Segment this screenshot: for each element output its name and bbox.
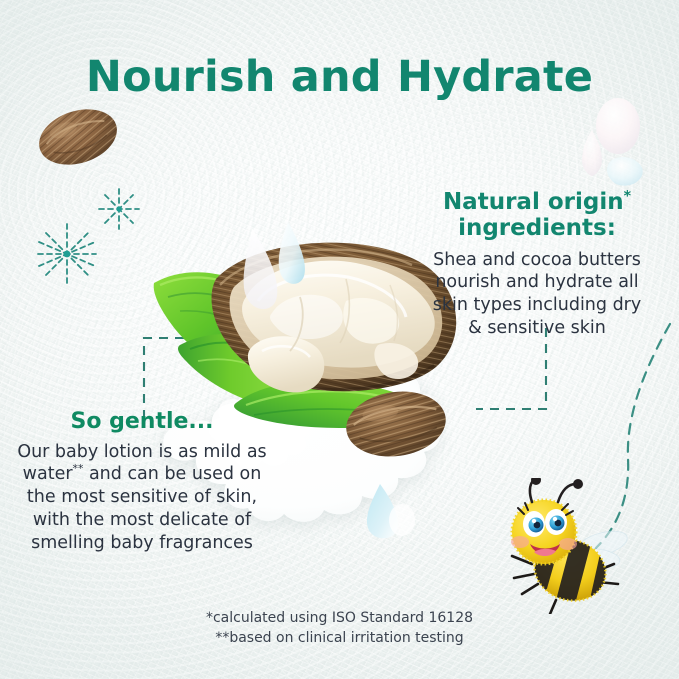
footnotes: *calculated using ISO Standard 16128 **b… (0, 608, 679, 649)
natural-origin-body: Shea and cocoa butters nourish and hydra… (428, 249, 646, 340)
natural-origin-heading-line1: Natural origin (443, 189, 624, 215)
infographic-canvas: Nourish and Hydrate Natural origin* ingr… (0, 0, 679, 679)
shea-nut-whole-center (340, 383, 452, 465)
text-block-natural-origin: Natural origin* ingredients: Shea and co… (428, 190, 646, 340)
text-block-so-gentle: So gentle... Our baby lotion is as mild … (16, 410, 268, 554)
water-droplets-illustration (562, 92, 670, 190)
water-droplet-lower (358, 478, 418, 544)
footnote-1: *calculated using ISO Standard 16128 (0, 608, 679, 628)
so-gentle-asterisk: ** (73, 463, 84, 476)
page-title: Nourish and Hydrate (0, 52, 679, 102)
natural-origin-heading-line2: ingredients: (458, 215, 616, 241)
shea-nut-whole-top-left (28, 98, 128, 176)
cartoon-bee-illustration (498, 478, 634, 614)
natural-origin-asterisk: * (624, 188, 631, 204)
so-gentle-heading: So gentle... (16, 410, 268, 435)
footnote-2: **based on clinical irritation testing (0, 628, 679, 648)
natural-origin-heading: Natural origin* ingredients: (428, 190, 646, 242)
water-droplet-center (228, 218, 318, 338)
so-gentle-body: Our baby lotion is as mild as water** an… (16, 441, 268, 555)
